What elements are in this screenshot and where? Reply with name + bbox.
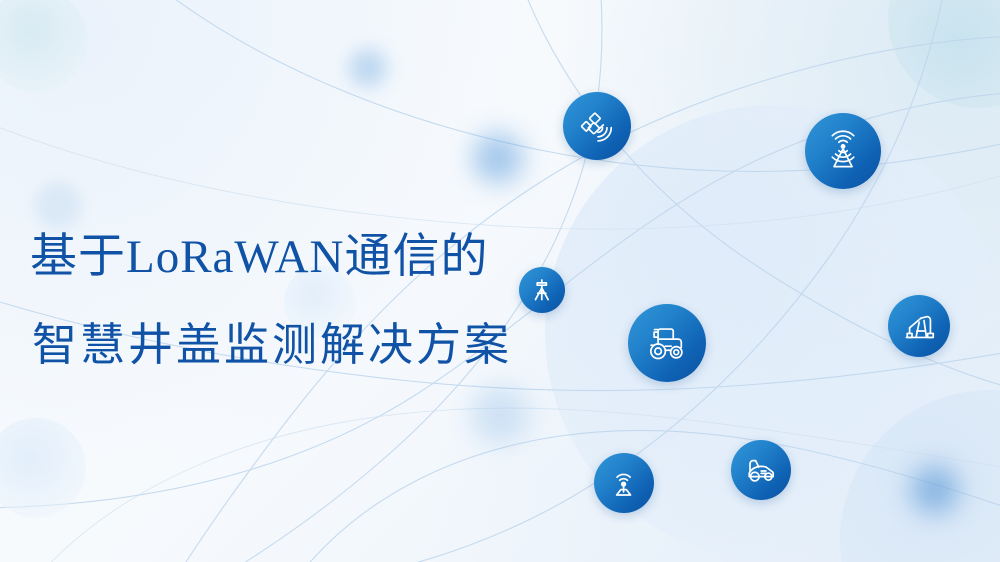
decor-circle-top-left — [0, 0, 88, 92]
bokeh-dot-3 — [471, 386, 529, 444]
decor-circle-bottom-left — [0, 418, 86, 518]
bokeh-dot-1 — [349, 49, 387, 87]
background-sphere-right — [840, 390, 1000, 562]
radio-tower-icon — [821, 129, 865, 173]
node-tractor[interactable] — [628, 304, 706, 382]
page-title-line-1: 基于LoRaWAN通信的 — [30, 226, 590, 288]
title-block: 基于LoRaWAN通信的 智慧井盖监测解决方案 — [30, 226, 590, 376]
node-sensor[interactable] — [594, 453, 654, 513]
bokeh-dot-2 — [473, 133, 523, 183]
node-antenna[interactable] — [805, 113, 881, 189]
satellite-signal-icon — [577, 106, 616, 145]
background-sphere-topright — [888, 0, 1000, 108]
robot-mower-icon — [742, 451, 780, 489]
bokeh-dot-5 — [34, 182, 82, 230]
node-rover[interactable] — [731, 440, 791, 500]
tractor-icon — [643, 319, 691, 367]
bokeh-dot-4 — [911, 466, 959, 514]
node-satellite[interactable] — [563, 92, 631, 160]
node-pumpjack[interactable] — [888, 295, 950, 357]
wireless-sensor-icon — [605, 464, 642, 501]
oil-pumpjack-icon — [900, 307, 938, 345]
title-slide: 基于LoRaWAN通信的 智慧井盖监测解决方案 — [0, 0, 1000, 562]
page-title-line-2: 智慧井盖监测解决方案 — [30, 314, 590, 376]
